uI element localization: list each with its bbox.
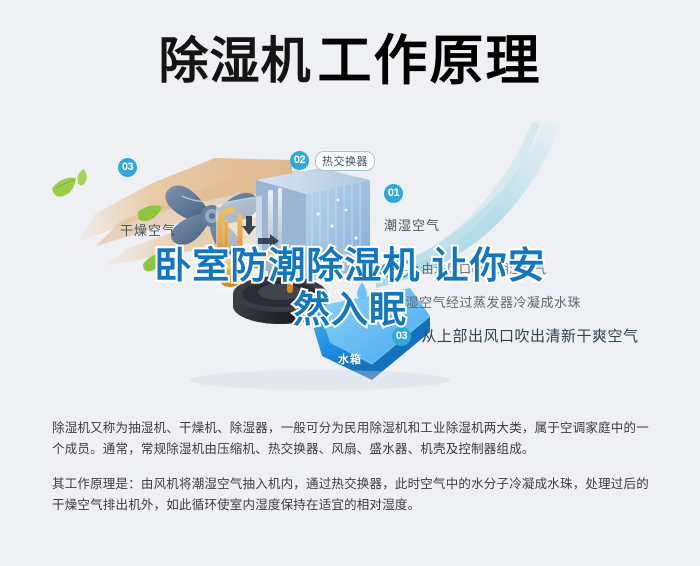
body-copy: 除湿机又称为抽湿机、干燥机、除湿器，一般可分为民用除湿机和工业除湿机两大类，属于…	[52, 418, 652, 516]
step-list: 01 由进风口吸入潮湿空气 潮湿空气经过蒸发器冷凝成水珠 03 从上部出风口吹出…	[392, 252, 692, 354]
step-badge-03: 03	[392, 327, 411, 346]
page-title: 除湿机工作原理	[0, 30, 700, 92]
leaf-icon	[78, 169, 87, 186]
callout-label-dry-air: 干燥空气	[120, 220, 176, 239]
callout-label-humid-air: 潮湿空气	[384, 215, 440, 234]
step-text-02: 潮湿空气经过蒸发器冷凝成水珠	[392, 286, 581, 320]
page-title-bold: 工作原理	[318, 31, 542, 91]
step-text-03: 从上部出风口吹出清新干爽空气	[421, 320, 638, 354]
step-text-01: 由进风口吸入潮湿空气	[421, 252, 546, 286]
leaf-icon	[52, 178, 76, 197]
callout-badge-01: 01	[384, 184, 403, 203]
callout-badge-03: 03	[118, 158, 137, 177]
page-title-light: 除湿机	[159, 33, 312, 89]
callout-badge-02: 02	[290, 151, 309, 170]
poster-root: 除湿机工作原理	[0, 0, 700, 566]
body-paragraph-1: 除湿机又称为抽湿机、干燥机、除湿器，一般可分为民用除湿机和工业除湿机两大类，属于…	[52, 418, 652, 460]
step-item-01: 01 由进风口吸入潮湿空气	[392, 252, 692, 286]
callout-label-heat-exchanger: 热交换器	[315, 151, 375, 171]
water-tank-label: 水箱	[338, 351, 362, 367]
step-badge-01: 01	[392, 259, 411, 278]
step-item-02: 潮湿空气经过蒸发器冷凝成水珠	[392, 286, 692, 320]
step-item-03: 03 从上部出风口吹出清新干爽空气	[392, 320, 692, 354]
body-paragraph-2: 其工作原理是：由风机将潮湿空气抽入机内，通过热交换器，此时空气中的水分子冷凝成水…	[52, 474, 652, 516]
